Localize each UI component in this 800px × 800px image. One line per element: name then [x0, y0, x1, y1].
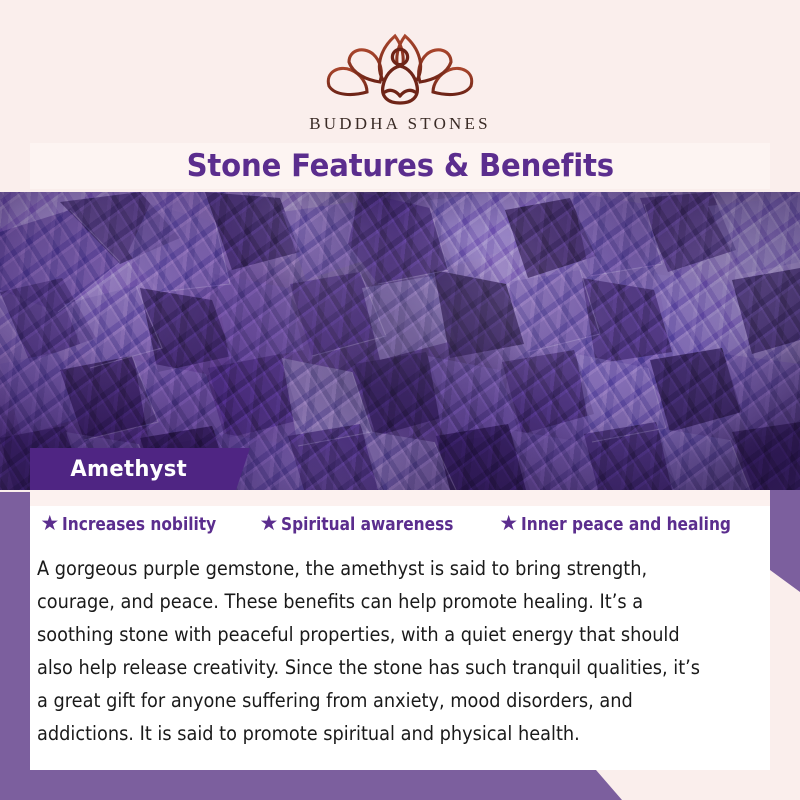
lotus-meditation-icon: [305, 26, 495, 112]
title-bar: Stone Features & Benefits: [30, 143, 770, 189]
frame-band-bottom: [0, 770, 800, 800]
brand-logo: BUDDHA STONES: [0, 26, 800, 134]
benefit-item-3: ★ Inner peace and healing: [499, 514, 759, 535]
benefit-label-2: Spiritual awareness: [281, 515, 453, 535]
benefit-item-1: ★ Increases nobility: [40, 514, 237, 535]
benefit-label-1: Increases nobility: [62, 515, 216, 535]
stone-name-banner: Amethyst: [30, 448, 250, 490]
brand-name: BUDDHA STONES: [0, 114, 800, 134]
benefit-item-2: ★ Spiritual awareness: [259, 514, 477, 535]
photo-vignette: [0, 192, 800, 490]
pane-top-strip: [30, 490, 770, 506]
header: BUDDHA STONES Stone Features & Benefits: [0, 0, 800, 192]
benefits-list: ★ Increases nobility ★ Spiritual awarene…: [30, 514, 770, 535]
amethyst-crystal-photo: [0, 192, 800, 490]
stone-description: A gorgeous purple gemstone, the amethyst…: [37, 552, 703, 750]
stone-name: Amethyst: [70, 457, 187, 482]
star-icon: ★: [259, 513, 278, 534]
description-pane: ★ Increases nobility ★ Spiritual awarene…: [30, 490, 770, 770]
page-title: Stone Features & Benefits: [186, 148, 613, 184]
frame-band-left: [0, 492, 30, 800]
star-icon: ★: [40, 513, 59, 534]
star-icon: ★: [499, 513, 518, 534]
benefit-label-3: Inner peace and healing: [521, 515, 731, 535]
infographic-page: BUDDHA STONES Stone Features & Benefits: [0, 0, 800, 800]
